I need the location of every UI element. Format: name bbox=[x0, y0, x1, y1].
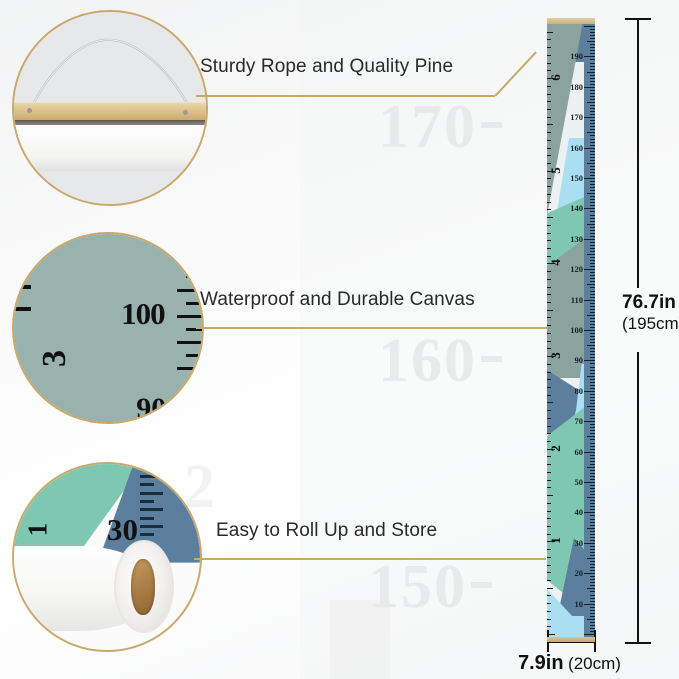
ruler-tick bbox=[584, 117, 595, 118]
ruler-tick bbox=[587, 619, 595, 620]
detail-circle-rope-pine bbox=[12, 10, 208, 206]
ruler-tick bbox=[590, 297, 595, 298]
ruler-tick bbox=[584, 56, 595, 57]
height-dimension-line-upper bbox=[637, 18, 639, 288]
ruler-tick bbox=[590, 561, 595, 562]
canvas-sheet bbox=[12, 125, 208, 171]
ruler-tick-imperial bbox=[547, 209, 551, 210]
ruler-tick bbox=[590, 172, 595, 173]
ruler-tick bbox=[590, 427, 595, 428]
ruler-tick bbox=[590, 221, 595, 222]
ruler-tick bbox=[587, 588, 595, 589]
ruler-tick bbox=[590, 418, 595, 419]
ruler-tick bbox=[590, 227, 595, 228]
ruler-tick bbox=[590, 506, 595, 507]
ruler-tick bbox=[590, 354, 595, 355]
ruler-tick-imperial bbox=[547, 163, 551, 164]
ruler-tick-imperial bbox=[547, 595, 551, 596]
ruler-cm-label: 180 bbox=[570, 83, 583, 92]
ruler-tick bbox=[584, 360, 595, 361]
ruler-tick bbox=[590, 576, 595, 577]
ruler-tick-imperial bbox=[547, 124, 553, 125]
ruler-tick bbox=[590, 66, 595, 67]
ruler-tick-imperial bbox=[547, 487, 551, 488]
ruler-tick bbox=[590, 96, 595, 97]
ruler-tick bbox=[590, 47, 595, 48]
ruler-tick bbox=[590, 114, 595, 115]
ruler-tick bbox=[590, 53, 595, 54]
callout-label-rope-pine: Sturdy Rope and Quality Pine bbox=[200, 56, 453, 78]
pine-hanger-bar-top bbox=[547, 18, 595, 24]
ruler-tick bbox=[584, 87, 595, 88]
ruler-tick bbox=[590, 50, 595, 51]
ruler-tick bbox=[590, 151, 595, 152]
ruler-ft-label: 3 bbox=[549, 352, 562, 359]
ruler-tick bbox=[590, 625, 595, 626]
ruler-tick bbox=[590, 81, 595, 82]
ruler-tick bbox=[590, 598, 595, 599]
ruler-tick-imperial bbox=[547, 86, 551, 87]
callout-line-rope-pine bbox=[196, 95, 495, 97]
ruler-tick bbox=[590, 509, 595, 510]
ruler-tick bbox=[587, 436, 595, 437]
ruler-tick bbox=[590, 607, 595, 608]
ruler-tick bbox=[590, 503, 595, 504]
ruler-tick bbox=[587, 406, 595, 407]
ruler-tick bbox=[590, 233, 595, 234]
ruler-tick bbox=[584, 543, 595, 544]
ruler-tick bbox=[590, 439, 595, 440]
ruler-tick-imperial bbox=[547, 456, 551, 457]
ruler-tick bbox=[590, 491, 595, 492]
ruler-tick bbox=[590, 476, 595, 477]
ruler-tick bbox=[590, 339, 595, 340]
ruler-tick-imperial bbox=[547, 626, 551, 627]
ruler-cm-label: 100 bbox=[570, 326, 583, 335]
ruler-cm-label: 160 bbox=[570, 144, 583, 153]
ruler-cm-label: 80 bbox=[575, 387, 584, 396]
ruler-tick bbox=[587, 528, 595, 529]
ruler-tick bbox=[590, 570, 595, 571]
ruler-tick-imperial bbox=[547, 109, 551, 110]
ruler-tick bbox=[590, 248, 595, 249]
ruler-tick-imperial bbox=[547, 294, 551, 295]
ruler-tick-imperial bbox=[547, 464, 551, 465]
ruler-tick bbox=[590, 205, 595, 206]
ruler-tick bbox=[590, 230, 595, 231]
ruler-ft-label: 2 bbox=[549, 445, 562, 452]
ruler-tick-imperial bbox=[547, 32, 553, 33]
ruler-tick bbox=[590, 464, 595, 465]
ruler-tick bbox=[590, 257, 595, 258]
ruler-tick bbox=[590, 552, 595, 553]
ruler-tick-imperial bbox=[547, 433, 551, 434]
ruler-tick-imperial bbox=[547, 364, 551, 365]
ruler-tick bbox=[590, 90, 595, 91]
ruler-tick bbox=[584, 26, 595, 27]
ruler-tick bbox=[590, 129, 595, 130]
ruler-tick-imperial bbox=[547, 511, 551, 512]
ruler-tick bbox=[590, 622, 595, 623]
ruler-tick bbox=[590, 500, 595, 501]
ruler-cm-label: 140 bbox=[570, 204, 583, 213]
ruler-tick bbox=[590, 458, 595, 459]
ruler-tick bbox=[590, 275, 595, 276]
ruler-tick bbox=[590, 309, 595, 310]
ruler-tick bbox=[590, 242, 595, 243]
ruler-tick-imperial bbox=[547, 101, 551, 102]
ruler-tick-imperial bbox=[547, 117, 551, 118]
ruler-cm-label: 150 bbox=[570, 174, 583, 183]
ruler-tick bbox=[587, 345, 595, 346]
ruler-tick bbox=[590, 157, 595, 158]
ruler-tick bbox=[590, 32, 595, 33]
ruler-tick bbox=[590, 126, 595, 127]
ruler-tick bbox=[590, 549, 595, 550]
ruler-tick bbox=[590, 111, 595, 112]
ruler-tick bbox=[590, 367, 595, 368]
ruler-tick bbox=[590, 537, 595, 538]
ruler-tick-imperial bbox=[547, 194, 551, 195]
ruler-tick-imperial bbox=[547, 603, 551, 604]
ruler-cm-label: 50 bbox=[575, 478, 584, 487]
detail-ft-label: 3 bbox=[38, 350, 72, 367]
ruler-tick bbox=[587, 72, 595, 73]
ruler-tick-imperial bbox=[547, 317, 551, 318]
ruler-tick-imperial bbox=[547, 217, 553, 218]
watermark-150: 150 bbox=[368, 552, 492, 623]
ruler-tick bbox=[590, 579, 595, 580]
ruler-tick bbox=[590, 154, 595, 155]
ruler-tick bbox=[587, 497, 595, 498]
ruler-tick bbox=[587, 558, 595, 559]
ruler-ft-label: 6 bbox=[549, 74, 562, 81]
ruler-tick-imperial bbox=[547, 588, 553, 589]
ruler-tick bbox=[590, 446, 595, 447]
ruler-tick-imperial bbox=[547, 140, 551, 141]
ruler-tick bbox=[590, 348, 595, 349]
callout-line-canvas bbox=[196, 327, 549, 329]
ruler-tick bbox=[590, 394, 595, 395]
ruler-tick bbox=[590, 433, 595, 434]
ruler-tick bbox=[590, 59, 595, 60]
ruler-tick-imperial bbox=[547, 186, 551, 187]
ruler-tick bbox=[590, 139, 595, 140]
ruler-tick bbox=[590, 44, 595, 45]
ruler-tick bbox=[590, 324, 595, 325]
ruler-tick bbox=[590, 184, 595, 185]
ruler-tick bbox=[590, 525, 595, 526]
ruler-tick bbox=[590, 397, 595, 398]
ruler-tick-imperial bbox=[547, 557, 551, 558]
ruler-tick bbox=[590, 585, 595, 586]
ruler-tick bbox=[590, 564, 595, 565]
ruler-tick bbox=[590, 218, 595, 219]
ruler-tick bbox=[587, 132, 595, 133]
ruler-tick bbox=[590, 519, 595, 520]
ruler-cm-label: 170 bbox=[570, 113, 583, 122]
ruler-tick bbox=[587, 102, 595, 103]
ruler-tick bbox=[590, 473, 595, 474]
ruler-tick-imperial bbox=[547, 256, 551, 257]
ruler-tick bbox=[590, 187, 595, 188]
ruler-tick bbox=[587, 254, 595, 255]
ruler-tick bbox=[587, 284, 595, 285]
ruler-tick-imperial bbox=[547, 240, 551, 241]
ruler-tick-imperial bbox=[547, 472, 551, 473]
detail-circle-canvas: 100 3 90 bbox=[12, 232, 204, 424]
callout-line-roll bbox=[194, 558, 546, 560]
ruler-tick bbox=[584, 178, 595, 179]
ruler-tick-imperial bbox=[547, 333, 551, 334]
ruler-tick bbox=[590, 379, 595, 380]
ruler-tick bbox=[590, 373, 595, 374]
ruler-tick-imperial bbox=[547, 611, 551, 612]
ruler-tick bbox=[590, 531, 595, 532]
ruler-tick bbox=[587, 224, 595, 225]
ruler-tick bbox=[590, 181, 595, 182]
ruler-tick-imperial bbox=[547, 310, 553, 311]
ruler-tick-imperial bbox=[547, 534, 551, 535]
ruler-tick-imperial bbox=[547, 155, 551, 156]
ruler-tick bbox=[590, 357, 595, 358]
ruler-tick-imperial bbox=[547, 132, 551, 133]
ruler-tick bbox=[590, 443, 595, 444]
ruler-tick bbox=[590, 409, 595, 410]
ruler-tick bbox=[590, 166, 595, 167]
ruler-tick bbox=[590, 336, 595, 337]
ruler-tick bbox=[590, 540, 595, 541]
ruler-tick bbox=[590, 403, 595, 404]
ruler-tick bbox=[590, 601, 595, 602]
ruler-tick bbox=[590, 260, 595, 261]
ruler-tick bbox=[590, 610, 595, 611]
ruler-tick bbox=[587, 376, 595, 377]
ruler-cm-label: 30 bbox=[575, 539, 584, 548]
ruler-tick bbox=[590, 29, 595, 30]
ruler-cm-label: 70 bbox=[575, 417, 584, 426]
ruler-tick-imperial bbox=[547, 387, 551, 388]
ruler-tick bbox=[590, 78, 595, 79]
ruler-tick bbox=[590, 199, 595, 200]
ruler-tick bbox=[584, 300, 595, 301]
ruler-tick bbox=[590, 370, 595, 371]
ruler-tick bbox=[587, 41, 595, 42]
ruler-tick bbox=[590, 211, 595, 212]
ruler-tick-imperial bbox=[547, 372, 551, 373]
ruler-tick bbox=[590, 287, 595, 288]
ruler-tick bbox=[590, 196, 595, 197]
ruler-tick bbox=[584, 269, 595, 270]
ruler-tick bbox=[584, 482, 595, 483]
ruler-tick bbox=[590, 385, 595, 386]
ruler-tick bbox=[590, 351, 595, 352]
ruler-tick-imperial bbox=[547, 225, 551, 226]
ruler-cm-label: 60 bbox=[575, 448, 584, 457]
pine-hanger-bar-bottom bbox=[547, 637, 595, 642]
ruler-tick bbox=[584, 391, 595, 392]
ruler-tick bbox=[590, 534, 595, 535]
ruler-tick bbox=[584, 452, 595, 453]
ruler-tick bbox=[590, 123, 595, 124]
ruler-tick bbox=[590, 546, 595, 547]
ruler-tick bbox=[590, 135, 595, 136]
ruler-tick-imperial bbox=[547, 178, 551, 179]
ruler-tick-imperial bbox=[547, 202, 551, 203]
ruler-cm-label: 10 bbox=[575, 600, 584, 609]
ruler-tick-imperial bbox=[547, 287, 551, 288]
ruler-tick-imperial bbox=[547, 572, 551, 573]
ruler-tick bbox=[590, 363, 595, 364]
ruler-tick bbox=[590, 38, 595, 39]
ruler-cm-label: 130 bbox=[570, 235, 583, 244]
ruler-tick bbox=[590, 281, 595, 282]
ruler-tick-imperial bbox=[547, 619, 551, 620]
ruler-tick bbox=[590, 342, 595, 343]
ruler-tick-imperial bbox=[547, 63, 551, 64]
ruler-tick-imperial bbox=[547, 395, 551, 396]
ruler-tick bbox=[590, 120, 595, 121]
ruler-tick bbox=[590, 75, 595, 76]
ruler-tick bbox=[590, 108, 595, 109]
ruler-tick bbox=[590, 430, 595, 431]
height-dimension-cap-bottom bbox=[625, 642, 651, 644]
ruler-tick-imperial bbox=[547, 302, 551, 303]
width-dimension-label: 7.9in (20cm) bbox=[518, 652, 621, 675]
height-dimension-line-lower bbox=[637, 352, 639, 642]
ruler-tick bbox=[590, 63, 595, 64]
height-dimension-label: 76.7in (195cm) bbox=[622, 292, 679, 334]
ruler-tick bbox=[590, 327, 595, 328]
ruler-tick bbox=[587, 163, 595, 164]
ruler-tick bbox=[584, 421, 595, 422]
ruler-tick bbox=[590, 333, 595, 334]
ruler-tick-imperial bbox=[547, 426, 551, 427]
ruler-tick bbox=[590, 616, 595, 617]
detail-cm-label: 100 bbox=[121, 298, 165, 329]
ruler-tick bbox=[590, 488, 595, 489]
ruler-tick bbox=[590, 479, 595, 480]
ruler-ft-label: 5 bbox=[549, 167, 562, 174]
ruler-tick bbox=[590, 400, 595, 401]
ruler-tick-imperial bbox=[547, 565, 551, 566]
ruler-tick bbox=[584, 330, 595, 331]
watermark-170: 170 bbox=[378, 92, 502, 163]
cardboard-core bbox=[131, 559, 155, 615]
ruler-tick bbox=[590, 215, 595, 216]
ruler-tick-imperial bbox=[547, 495, 553, 496]
ruler-tick-imperial bbox=[547, 441, 551, 442]
ruler-tick-imperial bbox=[547, 148, 551, 149]
ruler-tick-imperial bbox=[547, 341, 551, 342]
ruler-ft-label: 4 bbox=[549, 260, 562, 267]
ruler-tick bbox=[590, 306, 595, 307]
callout-label-canvas: Waterproof and Durable Canvas bbox=[200, 289, 475, 311]
growth-chart-ruler: 1901801701601501401301201101009080706050… bbox=[547, 18, 595, 642]
ruler-tick bbox=[590, 321, 595, 322]
detail-circle-roll: 30 1 bbox=[12, 462, 202, 652]
ruler-tick bbox=[590, 99, 595, 100]
ruler-tick bbox=[587, 467, 595, 468]
ruler-tick bbox=[590, 105, 595, 106]
ruler-tick bbox=[590, 595, 595, 596]
ruler-tick bbox=[590, 175, 595, 176]
ruler-tick-imperial bbox=[547, 503, 551, 504]
ruler-tick bbox=[584, 512, 595, 513]
ruler-tick bbox=[590, 190, 595, 191]
ruler-cm-label: 90 bbox=[575, 356, 584, 365]
ruler-tick bbox=[584, 148, 595, 149]
ruler-tick-imperial bbox=[547, 248, 551, 249]
ruler-tick bbox=[584, 604, 595, 605]
ruler-tick-imperial bbox=[547, 549, 551, 550]
ruler-tick bbox=[590, 278, 595, 279]
ruler-tick bbox=[584, 573, 595, 574]
ruler-tick bbox=[590, 382, 595, 383]
ruler-tick bbox=[590, 522, 595, 523]
ruler-tick bbox=[590, 69, 595, 70]
callout-label-roll: Easy to Roll Up and Store bbox=[216, 520, 437, 542]
ruler-tick-imperial bbox=[547, 94, 551, 95]
ruler-tick bbox=[590, 628, 595, 629]
ruler-tick bbox=[590, 515, 595, 516]
ruler-tick bbox=[590, 303, 595, 304]
pine-hanger-bar bbox=[12, 102, 208, 120]
ruler-tick bbox=[590, 555, 595, 556]
ruler-tick-imperial bbox=[547, 325, 551, 326]
ruler-tick bbox=[590, 470, 595, 471]
watermark-160: 160 bbox=[378, 326, 502, 397]
ruler-tick-imperial bbox=[547, 271, 551, 272]
ruler-cm-label: 20 bbox=[575, 569, 584, 578]
ruler-tick-imperial bbox=[547, 418, 551, 419]
ruler-tick bbox=[590, 160, 595, 161]
ruler-tick-imperial bbox=[547, 480, 551, 481]
ruler-tick bbox=[590, 567, 595, 568]
ruler-tick bbox=[587, 315, 595, 316]
ruler-tick bbox=[590, 266, 595, 267]
detail-ft-label: 1 bbox=[22, 523, 53, 537]
ruler-tick-imperial bbox=[547, 233, 551, 234]
ruler-tick bbox=[590, 145, 595, 146]
ruler-tick-imperial bbox=[547, 348, 551, 349]
ruler-tick bbox=[590, 84, 595, 85]
ruler-tick bbox=[584, 239, 595, 240]
ruler-tick-imperial bbox=[547, 410, 551, 411]
ruler-tick bbox=[590, 424, 595, 425]
ruler-tick bbox=[590, 35, 595, 36]
ruler-tick bbox=[590, 591, 595, 592]
ruler-tick-imperial bbox=[547, 70, 551, 71]
ruler-tick bbox=[590, 202, 595, 203]
ruler-tick bbox=[590, 415, 595, 416]
ruler-tick bbox=[590, 236, 595, 237]
ruler-tick bbox=[590, 251, 595, 252]
ruler-tick bbox=[590, 93, 595, 94]
ruler-tick bbox=[590, 582, 595, 583]
ruler-tick-imperial bbox=[547, 379, 551, 380]
ruler-tick-imperial bbox=[547, 39, 551, 40]
ruler-tick bbox=[590, 312, 595, 313]
ruler-ft-label: 1 bbox=[549, 538, 562, 545]
ruler-tick bbox=[590, 272, 595, 273]
ruler-tick-imperial bbox=[547, 55, 551, 56]
ruler-cm-label: 110 bbox=[571, 296, 583, 305]
ruler-tick bbox=[590, 461, 595, 462]
ruler-tick bbox=[590, 485, 595, 486]
ruler-tick bbox=[590, 263, 595, 264]
ruler-cm-label: 190 bbox=[570, 52, 583, 61]
